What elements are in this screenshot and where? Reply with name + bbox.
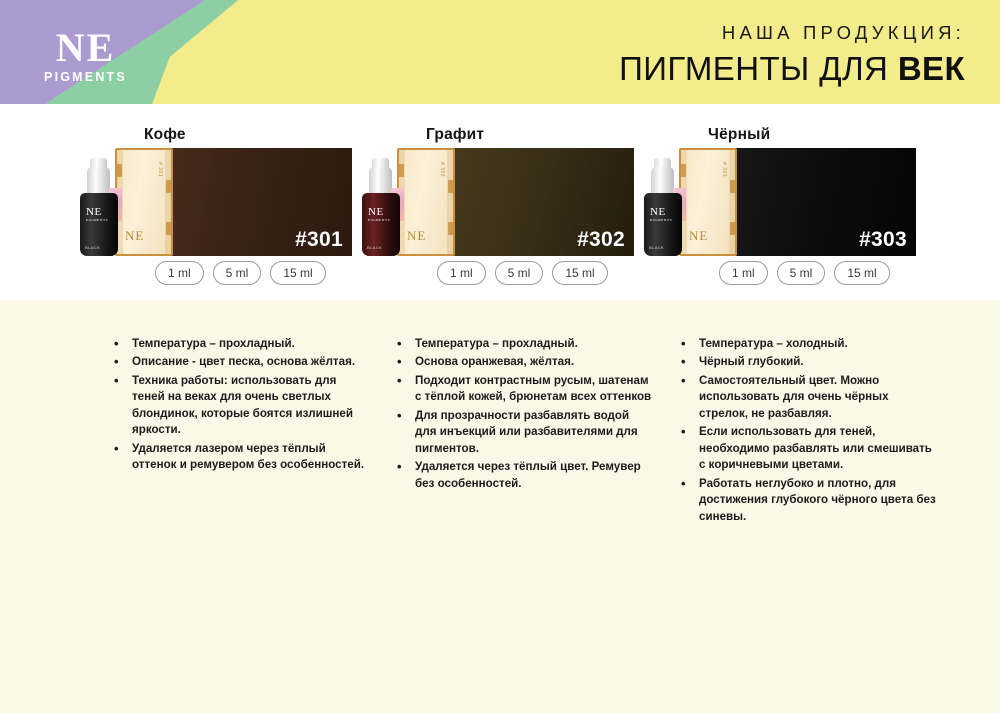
description-item: Чёрный глубокий. [677, 354, 937, 370]
box-right-edge [165, 150, 171, 254]
pigment-bottle-icon: NEPIGMENTS BLACK [643, 158, 683, 258]
description-column: Температура – прохладный.Описание - цвет… [110, 336, 370, 476]
description-item: Работать неглубоко и плотно, для достиже… [677, 476, 937, 525]
pigment-bottle-icon: NEPIGMENTS BLACK [79, 158, 119, 258]
color-swatch: #303 [708, 148, 916, 256]
header-title-bold: ВЕК [898, 50, 965, 87]
product-title: Чёрный [708, 126, 770, 144]
product-code: #303 [859, 228, 907, 252]
size-options: 1 ml 5 ml 15 ml [437, 261, 608, 285]
bottle-shade-label: BLACK [649, 245, 664, 250]
bottle-body: NEPIGMENTS BLACK [644, 193, 682, 256]
product-card[interactable]: Чёрный #303 # 303 NE NEPIGMENTS [639, 104, 924, 300]
box-tab [448, 222, 455, 235]
box-code-label: # 302 [439, 162, 445, 177]
box-right-edge [729, 150, 735, 254]
box-code-label: # 303 [721, 162, 727, 177]
color-swatch: #301 [144, 148, 352, 256]
description-item: Описание - цвет песка, основа жёлтая. [110, 354, 370, 370]
product-title: Кофе [144, 126, 186, 144]
box-ne-label: NE [125, 228, 144, 244]
product-strip: Кофе #301 # 301 NE NEPIGMENTS BL [0, 104, 1000, 300]
box-tab [448, 180, 455, 193]
size-option-5ml[interactable]: 5 ml [495, 261, 544, 285]
description-item: Самостоятельный цвет. Можно использовать… [677, 373, 937, 422]
box-right-edge [447, 150, 453, 254]
description-item: Температура – прохладный. [393, 336, 653, 352]
header-text-block: НАША ПРОДУКЦИЯ: ПИГМЕНТЫ ДЛЯ ВЕК [619, 24, 965, 85]
brand-logo: NE PIGMENTS [33, 28, 138, 84]
wooden-box-icon: # 301 NE [115, 148, 173, 256]
description-item: Основа оранжевая, жёлтая. [393, 354, 653, 370]
description-panel: Температура – прохладный.Описание - цвет… [0, 300, 1000, 713]
logo-mark-ne: NE [33, 28, 138, 68]
size-options: 1 ml 5 ml 15 ml [155, 261, 326, 285]
bottle-body: NEPIGMENTS BLACK [80, 193, 118, 256]
product-code: #302 [577, 228, 625, 252]
product-photo: # 302 NE NEPIGMENTS BLACK [357, 144, 457, 264]
description-list: Температура – холодный.Чёрный глубокий.С… [677, 336, 937, 525]
page-header: NE PIGMENTS НАША ПРОДУКЦИЯ: ПИГМЕНТЫ ДЛЯ… [0, 0, 1000, 104]
bottle-body: NEPIGMENTS BLACK [362, 193, 400, 256]
description-item: Техника работы: использовать для теней н… [110, 373, 370, 439]
description-column: Температура – холодный.Чёрный глубокий.С… [677, 336, 937, 527]
size-option-5ml[interactable]: 5 ml [777, 261, 826, 285]
box-code-label: # 301 [157, 162, 163, 177]
product-photo: # 301 NE NEPIGMENTS BLACK [75, 144, 175, 264]
bottle-shade-label: BLACK [85, 245, 100, 250]
size-option-15ml[interactable]: 15 ml [552, 261, 607, 285]
box-tab [730, 180, 737, 193]
wooden-box-icon: # 303 NE [679, 148, 737, 256]
box-tab [166, 180, 173, 193]
wooden-box-icon: # 302 NE [397, 148, 455, 256]
color-swatch: #302 [426, 148, 634, 256]
product-title: Графит [426, 126, 484, 144]
description-list: Температура – прохладный.Описание - цвет… [110, 336, 370, 474]
box-ne-label: NE [407, 228, 426, 244]
bottle-ne-label: NEPIGMENTS [86, 207, 108, 223]
description-item: Для прозрачности разбавлять водой для ин… [393, 408, 653, 457]
box-ne-label: NE [689, 228, 708, 244]
bottle-ne-label: NEPIGMENTS [368, 207, 390, 223]
product-card[interactable]: Графит #302 # 302 NE NEPIGMENTS [357, 104, 642, 300]
box-tab [166, 222, 173, 235]
size-option-1ml[interactable]: 1 ml [155, 261, 204, 285]
description-item: Если использовать для теней, необходимо … [677, 424, 937, 473]
header-title: ПИГМЕНТЫ ДЛЯ ВЕК [619, 52, 965, 85]
description-item: Подходит контрастным русым, шатенам с тё… [393, 373, 653, 406]
product-card[interactable]: Кофе #301 # 301 NE NEPIGMENTS BL [75, 104, 360, 300]
size-option-15ml[interactable]: 15 ml [834, 261, 889, 285]
pigment-bottle-icon: NEPIGMENTS BLACK [361, 158, 401, 258]
header-title-normal: ПИГМЕНТЫ ДЛЯ [619, 50, 898, 87]
logo-subtitle-pigments: PIGMENTS [33, 71, 138, 84]
size-option-15ml[interactable]: 15 ml [270, 261, 325, 285]
bottle-shade-label: BLACK [367, 245, 382, 250]
description-item: Температура – прохладный. [110, 336, 370, 352]
header-kicker: НАША ПРОДУКЦИЯ: [619, 24, 965, 43]
size-option-5ml[interactable]: 5 ml [213, 261, 262, 285]
description-item: Температура – холодный. [677, 336, 937, 352]
description-list: Температура – прохладный.Основа оранжева… [393, 336, 653, 492]
description-column: Температура – прохладный.Основа оранжева… [393, 336, 653, 494]
box-tab [730, 222, 737, 235]
size-option-1ml[interactable]: 1 ml [437, 261, 486, 285]
size-option-1ml[interactable]: 1 ml [719, 261, 768, 285]
product-code: #301 [295, 228, 343, 252]
bottle-ne-label: NEPIGMENTS [650, 207, 672, 223]
description-item: Удаляется через тёплый цвет. Ремувер без… [393, 459, 653, 492]
size-options: 1 ml 5 ml 15 ml [719, 261, 890, 285]
product-photo: # 303 NE NEPIGMENTS BLACK [639, 144, 739, 264]
description-item: Удаляется лазером через тёплый оттенок и… [110, 441, 370, 474]
